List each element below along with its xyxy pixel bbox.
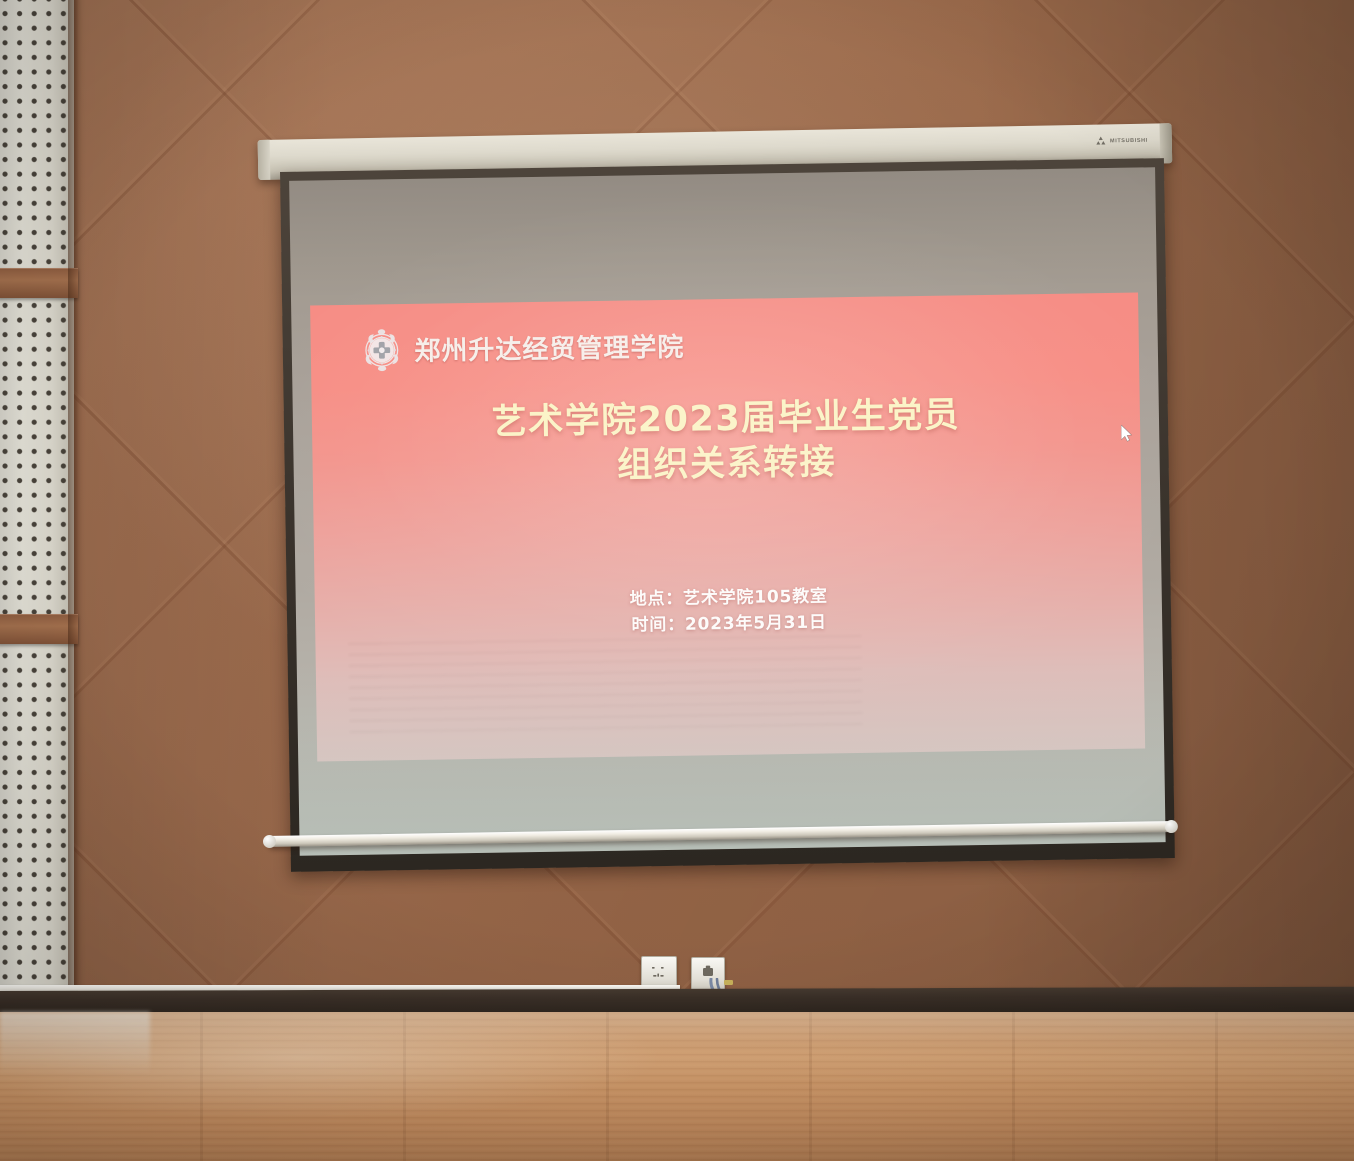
- floor-light-reflection: [0, 1012, 1354, 1161]
- mouse-pointer-icon[interactable]: [1121, 425, 1132, 442]
- projection-screen-surface: 郑州升达经贸管理学院 艺术学院2023届毕业生党员 组织关系转接 地点：艺术学院…: [289, 167, 1165, 856]
- rod-end-cap-left: [263, 835, 276, 848]
- classroom-photo-scene: MITSUBISHI: [0, 0, 1354, 1161]
- projection-screen-assembly: MITSUBISHI: [258, 128, 1188, 858]
- mitsubishi-three-diamonds-icon: [1096, 136, 1106, 145]
- perforated-acoustic-panel: [0, 0, 74, 1000]
- projection-screen-frame: 郑州升达经贸管理学院 艺术学院2023届毕业生党员 组织关系转接 地点：艺术学院…: [280, 158, 1175, 872]
- housing-brand-label: MITSUBISHI: [1110, 137, 1148, 144]
- slide-university-lockup: 郑州升达经贸管理学院: [356, 320, 685, 375]
- slide-title: 艺术学院2023届毕业生党员 组织关系转接: [312, 390, 1141, 494]
- slide-university-name: 郑州升达经贸管理学院: [414, 327, 685, 368]
- slide-faint-watermark: [349, 635, 864, 733]
- rod-end-cap-right: [1165, 820, 1178, 833]
- cable-connector-tip: [724, 980, 733, 985]
- panel-divider-lower: [0, 614, 78, 644]
- panel-perforations: [0, 0, 74, 1000]
- slide-meta-block: 地点：艺术学院105教室 时间：2023年5月31日: [315, 579, 1144, 644]
- panel-edge-shadow: [68, 0, 78, 1000]
- projected-slide: 郑州升达经贸管理学院 艺术学院2023届毕业生党员 组织关系转接 地点：艺术学院…: [310, 292, 1145, 761]
- floor-panel-reflection: [0, 1012, 150, 1076]
- housing-brand-lockup: MITSUBISHI: [1096, 136, 1148, 146]
- housing-end-cap-left: [258, 140, 271, 180]
- power-socket-icon: [649, 964, 669, 982]
- university-crest-icon: [356, 324, 407, 375]
- panel-divider-upper: [0, 268, 78, 298]
- wooden-floor: [0, 1012, 1354, 1161]
